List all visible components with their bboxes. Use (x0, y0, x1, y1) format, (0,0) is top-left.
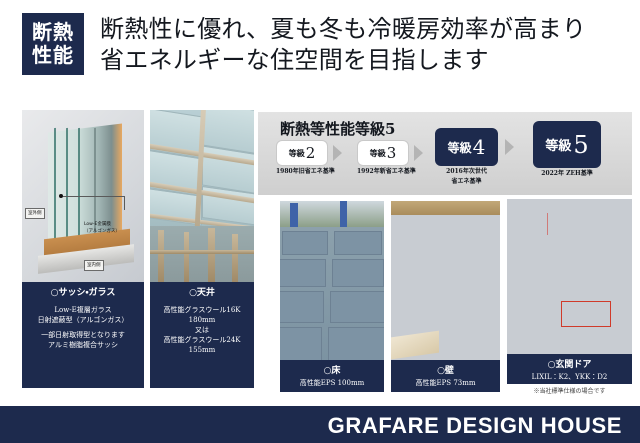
door-caption-title: ○玄関ドア (509, 359, 630, 372)
grade-step-5-label: 等級 (545, 135, 571, 154)
label-inside-side: 室内側 (84, 260, 104, 271)
sash-caption-title: ○サッシ・ガラス (24, 287, 142, 300)
grade-step-2-number: 2 (306, 144, 316, 162)
grade-step-3-label: 等級 (370, 148, 386, 159)
card-sash-glass: 室外側 Low-E金属膜 （アルゴンガス） 室内側 ○サッシ・ガラス Low-E… (22, 110, 144, 388)
sash-caption-line-3: 一部日射取得型となります (24, 330, 142, 340)
badge-line-2: 性能 (32, 44, 74, 67)
grade-step-2: 等級2 1980年旧省エネ基準 (276, 140, 335, 176)
ceiling-caption-line-1: 高性能グラスウール16K (152, 305, 252, 315)
ceiling-caption: ○天井 高性能グラスウール16K 180mm 又は 高性能グラスウール24K 1… (150, 282, 254, 388)
sash-cross-section-photo: 室外側 Low-E金属膜 （アルゴンガス） 室内側 (22, 110, 144, 282)
floor-beam-h2 (280, 285, 384, 291)
window-pane-3 (78, 128, 80, 240)
ceiling-lower-area (150, 226, 254, 282)
ceiling-caption-title: ○天井 (152, 287, 252, 300)
floor-panel-6 (330, 291, 384, 323)
section-badge: 断熱 性能 (22, 13, 84, 75)
footer-bar: GRAFARE DESIGN HOUSE (0, 406, 640, 443)
sash-caption-line-2: 日射遮蔽型（アルゴンガス） (24, 315, 142, 325)
headline-line-1: 断熱性に優れ、夏も冬も冷暖房効率が高まり (100, 14, 630, 45)
arrow-right-icon-2 (414, 145, 423, 161)
floor-beam-h3 (280, 321, 384, 328)
grade-step-4-caption-line-2: 省エネ基準 (435, 178, 498, 186)
door-caption-line-1: LIXIL：K2、YKK：D2 (509, 372, 630, 382)
footnote: ※当社標準仕様の場合です (507, 386, 632, 395)
label-outside-side: 室外側 (25, 208, 45, 219)
grade-step-5: 等級5 2022年 ZEH基準 (533, 121, 601, 178)
ceiling-caption-line-4: 高性能グラスウール24K (152, 335, 252, 345)
floor-panel-3 (280, 259, 326, 287)
ceiling-caption-line-5: 155mm (152, 345, 252, 355)
ceiling-stud-2 (184, 232, 189, 282)
grade-step-4-label: 等級 (448, 139, 472, 156)
grade-step-3-box: 等級3 (357, 140, 409, 166)
infographic-page: 断熱 性能 断熱性に優れ、夏も冬も冷暖房効率が高まり 省エネルギーな住空間を目指… (0, 0, 640, 443)
floor-beam-h1 (280, 253, 384, 259)
door-upper-leader-drop (547, 213, 548, 235)
grade-step-5-number: 5 (573, 131, 588, 159)
arrow-right-icon-1 (333, 145, 342, 161)
wall-caption-line-1: 高性能EPS 73mm (393, 378, 498, 388)
callout-leader-line (63, 196, 125, 197)
ceiling-caption-line-3: 又は (152, 325, 252, 335)
ceiling-stud-3 (208, 228, 215, 282)
grade-step-2-box: 等級2 (276, 140, 328, 166)
door-upper-dark-frame (507, 305, 533, 354)
floor-scaffold-1 (290, 203, 298, 227)
card-entrance-door: 樹脂断熱ライン 気密材 四周気密部材構造 42mm 断熱材 ○玄関ドア LIXI… (507, 199, 632, 384)
door-cross-section-photo: 樹脂断熱ライン 気密材 四周気密部材構造 42mm 断熱材 (507, 199, 632, 354)
floor-panel-1 (282, 231, 328, 255)
floor-caption: ○床 高性能EPS 100mm (280, 360, 384, 392)
card-floor: ○床 高性能EPS 100mm (280, 201, 384, 392)
floor-panel-7 (280, 327, 322, 360)
ceiling-stud-4 (232, 234, 238, 282)
headline: 断熱性に優れ、夏も冬も冷暖房効率が高まり 省エネルギーな住空間を目指します (100, 14, 630, 76)
grade-step-2-caption: 1980年旧省エネ基準 (276, 168, 335, 176)
grade-panel-title: 断熱等性能等級5 (280, 118, 395, 139)
header: 断熱 性能 断熱性に優れ、夏も冬も冷暖房効率が高まり 省エネルギーな住空間を目指… (0, 0, 640, 100)
grade-step-2-label: 等級 (289, 148, 305, 159)
callout-leader-drop (124, 196, 125, 210)
wall-caption-title: ○壁 (393, 365, 498, 378)
wall-board-1 (391, 201, 413, 317)
grade-step-4: 等級4 2016年次世代 省エネ基準 (435, 128, 498, 186)
floor-caption-line-1: 高性能EPS 100mm (282, 378, 382, 388)
sash-caption-line-1: Low-E複層ガラス (24, 305, 142, 315)
card-wall: ○壁 高性能EPS 73mm (391, 201, 500, 392)
brand-name: GRAFARE DESIGN HOUSE (328, 413, 622, 439)
ceiling-caption-line-2: 180mm (152, 315, 252, 325)
card-ceiling: ○天井 高性能グラスウール16K 180mm 又は 高性能グラスウール24K 1… (150, 110, 254, 388)
badge-line-1: 断熱 (32, 21, 74, 44)
floor-scaffold-2 (340, 201, 347, 227)
floor-insulation-photo (280, 201, 384, 360)
wall-ceiling-joists (391, 201, 500, 215)
floor-panel-4 (332, 259, 384, 287)
arrow-right-icon-3 (505, 139, 514, 155)
grade-step-3-number: 3 (387, 144, 397, 162)
grade-step-4-caption-line-1: 2016年次世代 (435, 168, 498, 176)
grade-step-5-box: 等級5 (533, 121, 601, 168)
grade-step-3: 等級3 1992年新省エネ基準 (357, 140, 416, 176)
floor-panel-5 (280, 291, 324, 323)
grade-step-5-caption: 2022年 ZEH基準 (533, 170, 601, 178)
wall-caption: ○壁 高性能EPS 73mm (391, 360, 500, 392)
ceiling-stud-1 (158, 230, 164, 282)
sash-caption-line-4: アルミ樹脂複合サッシ (24, 340, 142, 350)
floor-panel-8 (328, 327, 384, 360)
sash-caption: ○サッシ・ガラス Low-E複層ガラス 日射遮蔽型（アルゴンガス） 一部日射取得… (22, 282, 144, 388)
door-upper-wood (507, 243, 529, 305)
door-insulation-outline (561, 301, 611, 327)
grade-step-3-caption: 1992年新省エネ基準 (357, 168, 416, 176)
label-argon-gas: （アルゴンガス） (82, 227, 122, 236)
floor-panel-2 (334, 231, 382, 255)
window-pane-1 (54, 128, 56, 240)
grade-step-4-box: 等級4 (435, 128, 498, 166)
window-pane-2 (66, 128, 68, 240)
grade-step-4-number: 4 (473, 135, 486, 159)
ceiling-insulation-photo (150, 110, 254, 282)
headline-line-2: 省エネルギーな住空間を目指します (100, 45, 630, 76)
floor-beam-v1 (324, 227, 331, 360)
floor-caption-title: ○床 (282, 365, 382, 378)
ceiling-rail (150, 250, 254, 254)
door-caption: ○玄関ドア LIXIL：K2、YKK：D2 (507, 354, 632, 384)
wall-insulation-photo (391, 201, 500, 360)
